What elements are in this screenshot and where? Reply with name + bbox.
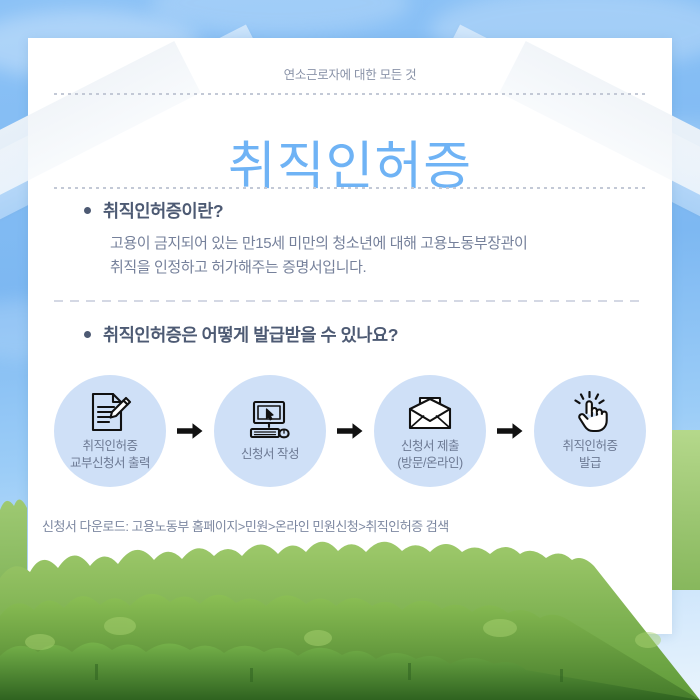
- desktop-computer-cursor-icon: [246, 399, 294, 441]
- flow-step-print-application: 취직인허증 교부신청서 출력: [54, 375, 166, 487]
- process-flow: 취직인허증 교부신청서 출력: [54, 370, 646, 492]
- section-how-to-apply: 취직인허증은 어떻게 발급받을 수 있나요?: [84, 322, 632, 347]
- caption-line: 신청서 작성: [241, 446, 299, 463]
- flow-step-caption: 신청서 제출 (방문/온라인): [397, 438, 462, 471]
- bullet-dot-icon: [84, 331, 91, 338]
- divider-dotted-top: [54, 93, 646, 95]
- poster-canvas: 연소근로자에 대한 모든 것 취직인허증 취직인허증이란? 고용이 금지되어 있…: [0, 0, 700, 700]
- poster-subtitle: 연소근로자에 대한 모든 것: [28, 64, 672, 83]
- open-envelope-letter-icon: [406, 391, 454, 433]
- document-pencil-icon: [87, 391, 133, 433]
- caption-line: 교부신청서 출력: [70, 455, 150, 472]
- caption-line: (방문/온라인): [397, 455, 462, 472]
- flow-arrow-icon: [336, 420, 364, 442]
- caption-line: 발급: [562, 455, 617, 472]
- caption-line: 취직인허증: [70, 438, 150, 455]
- flow-step-issue-permit: 취직인허증 발급: [534, 375, 646, 487]
- flow-step-caption: 취직인허증 교부신청서 출력: [70, 438, 150, 471]
- page-title: 취직인허증: [28, 141, 672, 193]
- flow-step-caption: 신청서 작성: [241, 446, 299, 463]
- info-card: 연소근로자에 대한 모든 것 취직인허증 취직인허증이란? 고용이 금지되어 있…: [28, 38, 672, 634]
- bullet-dot-icon: [84, 207, 91, 214]
- body-line: 고용이 금지되어 있는 만15세 미만의 청소년에 대해 고용노동부장관이: [110, 232, 632, 256]
- clicking-hand-icon: [570, 391, 610, 433]
- flow-step-submit-application: 신청서 제출 (방문/온라인): [374, 375, 486, 487]
- flow-arrow-icon: [176, 420, 204, 442]
- divider-dotted-bottom: [54, 187, 646, 189]
- caption-line: 취직인허증: [562, 438, 617, 455]
- section-heading-label: 취직인허증이란?: [103, 198, 223, 223]
- cloud-decoration: [150, 0, 410, 34]
- section-heading: 취직인허증은 어떻게 발급받을 수 있나요?: [84, 322, 632, 347]
- body-line: 취직을 인정하고 허가해주는 증명서입니다.: [110, 256, 632, 280]
- flow-step-fill-application: 신청서 작성: [214, 375, 326, 487]
- download-note: 신청서 다운로드: 고용노동부 홈페이지>민원>온라인 민원신청>취직인허증 검…: [42, 516, 449, 535]
- section-heading-label: 취직인허증은 어떻게 발급받을 수 있나요?: [103, 322, 398, 347]
- caption-line: 신청서 제출: [397, 438, 462, 455]
- section-body: 고용이 금지되어 있는 만15세 미만의 청소년에 대해 고용노동부장관이 취직…: [110, 232, 632, 281]
- section-definition: 취직인허증이란? 고용이 금지되어 있는 만15세 미만의 청소년에 대해 고용…: [84, 198, 632, 281]
- flow-step-caption: 취직인허증 발급: [562, 438, 617, 471]
- flow-arrow-icon: [496, 420, 524, 442]
- divider-dashed-middle: [54, 300, 646, 302]
- lawn-sliver: [672, 430, 700, 590]
- section-heading: 취직인허증이란?: [84, 198, 632, 223]
